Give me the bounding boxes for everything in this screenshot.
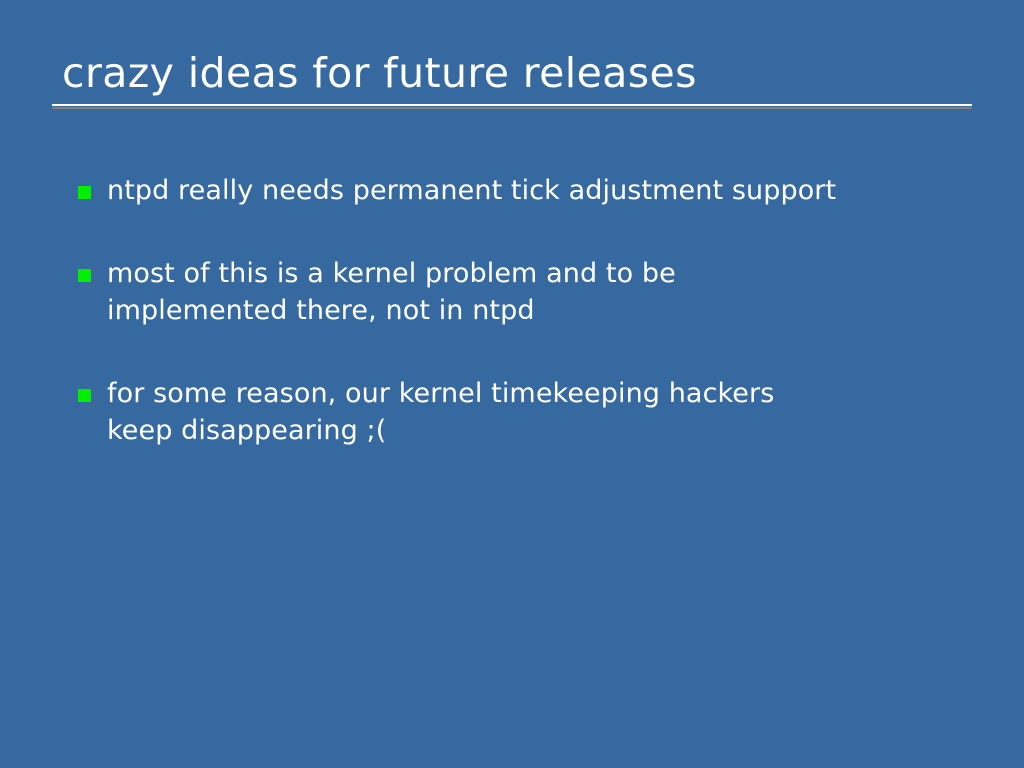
slide-body-bullet-list: ntpd really needs permanent tick adjustm… [78, 172, 978, 449]
square-bullet-icon [78, 186, 91, 199]
list-item-label: for some reason, our kernel timekeeping … [107, 375, 978, 449]
list-item: for some reason, our kernel timekeeping … [78, 375, 978, 449]
page-title: crazy ideas for future releases [52, 48, 972, 98]
slide-title-block: crazy ideas for future releases [52, 48, 972, 106]
presentation-slide: crazy ideas for future releases ntpd rea… [0, 0, 1024, 768]
list-item-label: most of this is a kernel problem and to … [107, 255, 978, 329]
list-item: most of this is a kernel problem and to … [78, 255, 978, 329]
list-item: ntpd really needs permanent tick adjustm… [78, 172, 978, 209]
square-bullet-icon [78, 389, 91, 402]
list-item-label: ntpd really needs permanent tick adjustm… [107, 172, 978, 209]
square-bullet-icon [78, 269, 91, 282]
title-underline-rule [52, 104, 972, 106]
